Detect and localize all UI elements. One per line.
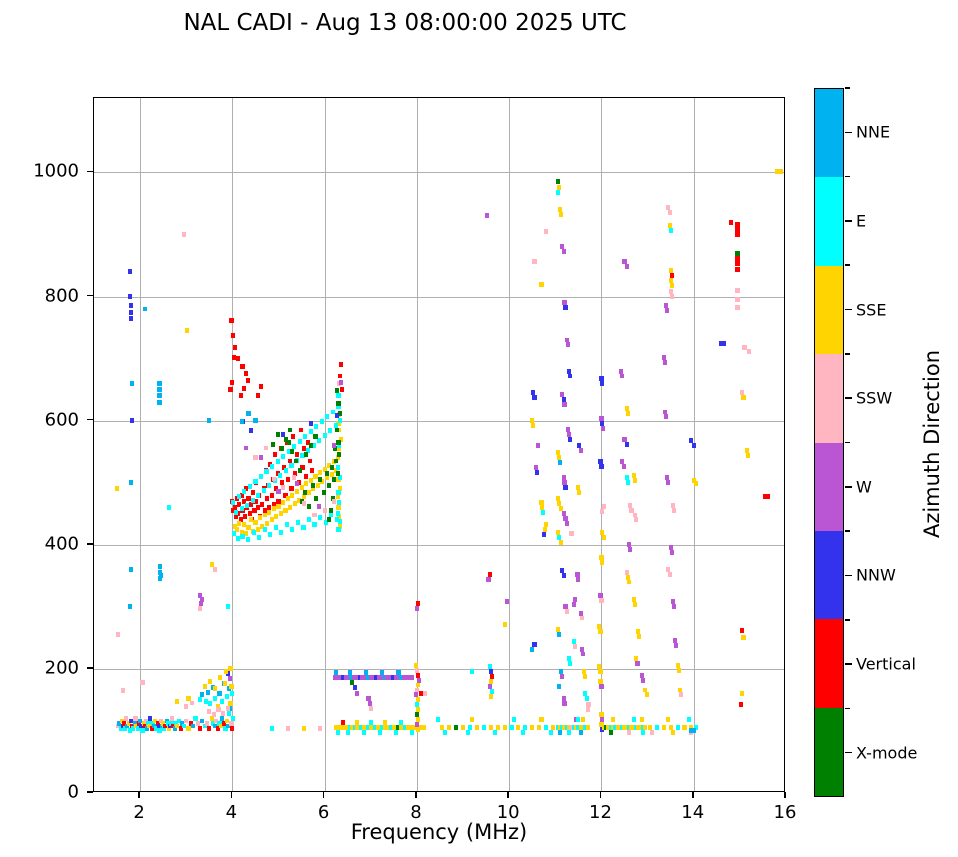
colorbar-tick (845, 663, 852, 665)
colorbar-tick (845, 132, 852, 134)
colorbar-band-w[interactable] (815, 443, 843, 531)
colorbar-tick (845, 220, 852, 222)
colorbar-boundary-tick (845, 353, 850, 355)
colorbar-band-vertical[interactable] (815, 619, 843, 707)
x-tick (600, 792, 602, 798)
colorbar-boundary-tick (845, 264, 850, 266)
x-tick (323, 792, 325, 798)
colorbar-label-x-mode: X-mode (856, 743, 917, 762)
colorbar-boundary-tick (845, 442, 850, 444)
y-tick (87, 295, 93, 297)
ionogram-figure: NAL CADI - Aug 13 08:00:00 2025 UTC 2468… (0, 0, 958, 857)
colorbar-label-sse: SSE (856, 300, 886, 319)
y-tick (87, 171, 93, 173)
colorbar-tick (845, 309, 852, 311)
colorbar-band-e[interactable] (815, 177, 843, 265)
figure-title: NAL CADI - Aug 13 08:00:00 2025 UTC (0, 10, 810, 36)
colorbar-band-ssw[interactable] (815, 354, 843, 442)
colorbar-label-vertical: Vertical (856, 655, 916, 674)
x-tick (231, 792, 233, 798)
x-axis-title: Frequency (MHz) (93, 820, 785, 844)
colorbar-band-sse[interactable] (815, 266, 843, 354)
x-tick (138, 792, 140, 798)
y-tick (87, 791, 93, 793)
y-tick-label: 600 (45, 409, 79, 430)
y-tick-label: 0 (68, 782, 79, 803)
y-tick (87, 543, 93, 545)
y-tick-label: 800 (45, 285, 79, 306)
axes-decorations: 24681012141602004006008001000 (93, 97, 785, 792)
colorbar-label-nne: NNE (856, 123, 890, 142)
x-tick (692, 792, 694, 798)
colorbar-tick (845, 486, 852, 488)
colorbar-boundary-tick (845, 530, 850, 532)
y-tick (87, 667, 93, 669)
colorbar-label-ssw: SSW (856, 389, 892, 408)
colorbar-label-nnw: NNW (856, 566, 896, 585)
colorbar[interactable] (814, 88, 844, 797)
colorbar-band-nnw[interactable] (815, 531, 843, 619)
colorbar-boundary-tick (845, 619, 850, 621)
colorbar-band-x-mode[interactable] (815, 708, 843, 796)
colorbar-boundary-tick (845, 708, 850, 710)
x-tick (415, 792, 417, 798)
colorbar-boundary-tick (845, 176, 850, 178)
colorbar-label-w: W (856, 477, 872, 496)
y-tick-label: 1000 (33, 161, 79, 182)
y-tick (87, 419, 93, 421)
y-tick-label: 400 (45, 533, 79, 554)
x-tick (507, 792, 509, 798)
colorbar-boundary-tick (845, 87, 850, 89)
colorbar-tick (845, 752, 852, 754)
x-tick (784, 792, 786, 798)
colorbar-tick (845, 575, 852, 577)
y-tick-label: 200 (45, 657, 79, 678)
colorbar-band-nne[interactable] (815, 89, 843, 177)
colorbar-label-e: E (856, 211, 866, 230)
colorbar-tick (845, 397, 852, 399)
colorbar-title: Azimuth Direction (920, 350, 944, 538)
